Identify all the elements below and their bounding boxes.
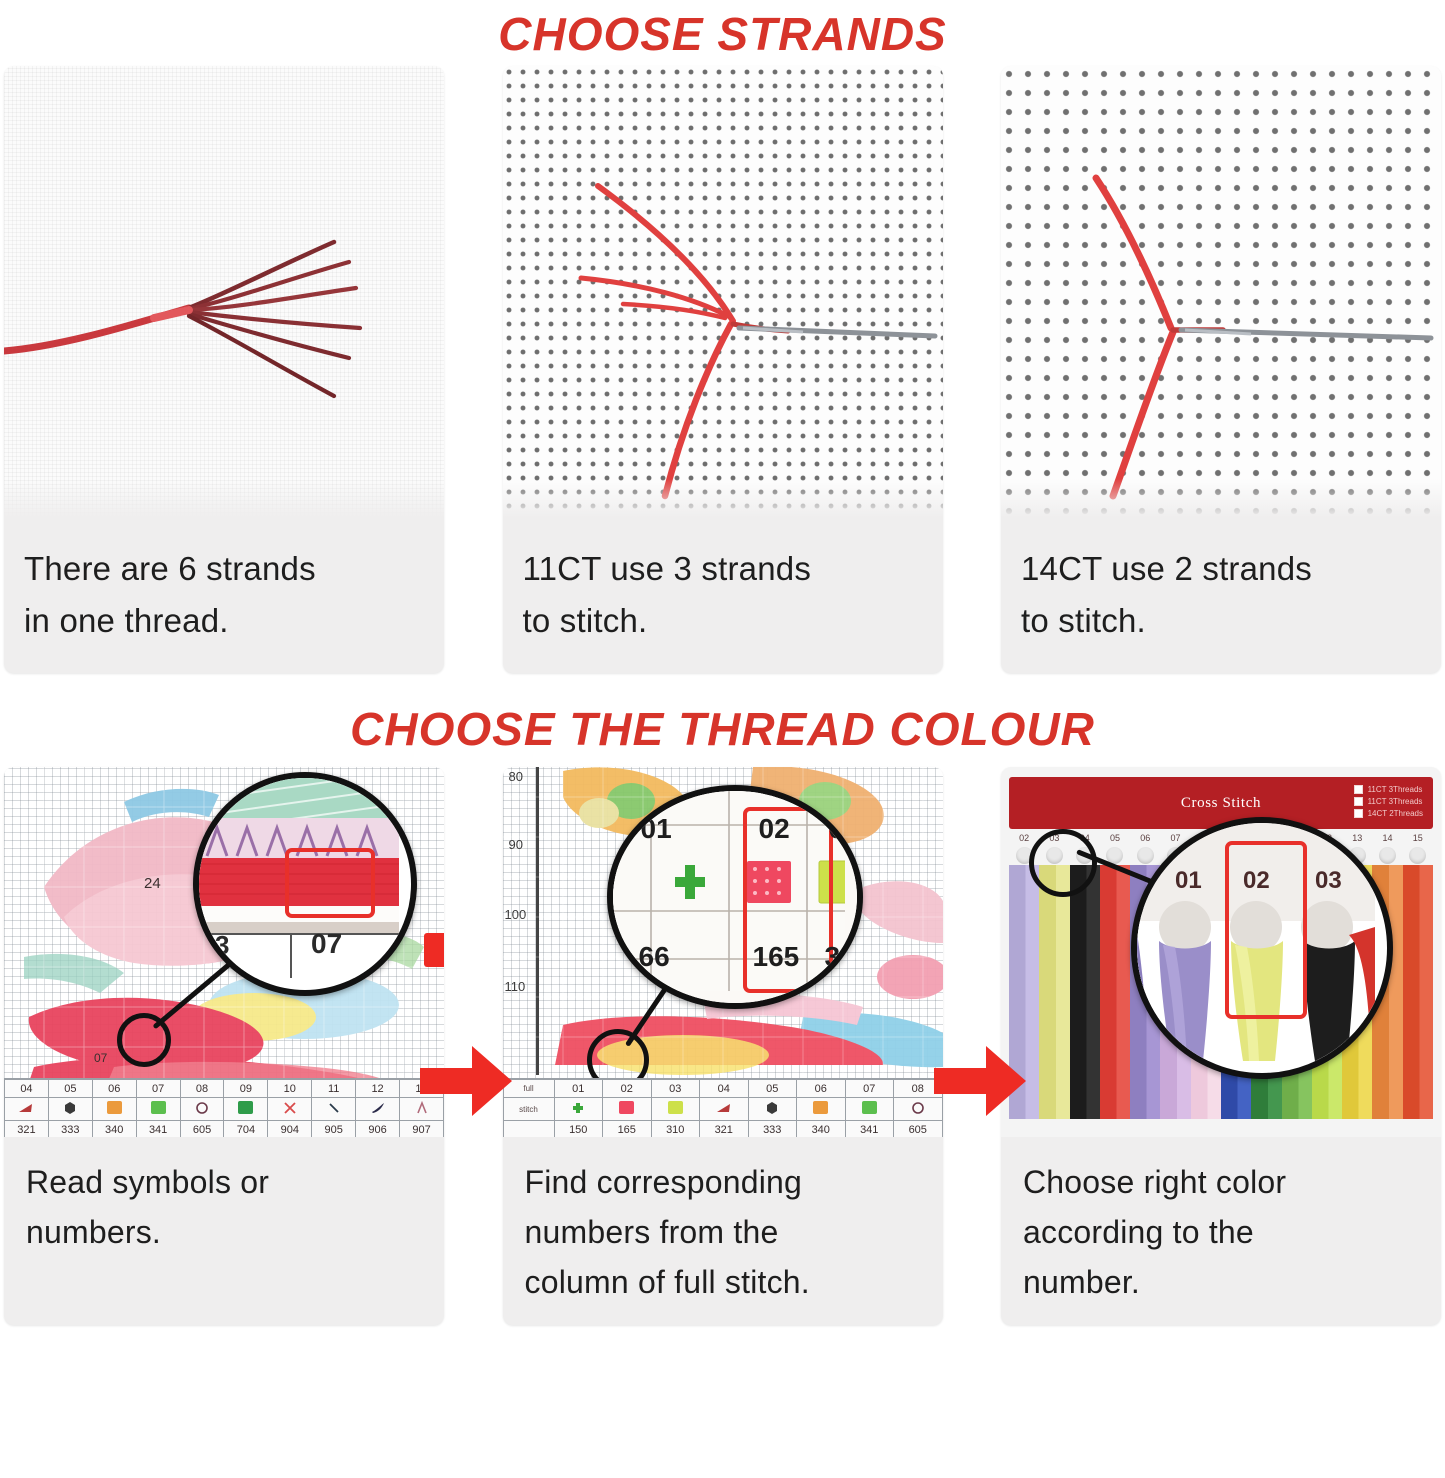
caption-line-1: 11CT use 3 strands — [523, 543, 923, 595]
option-label: 11CT 3Threads — [1368, 797, 1423, 806]
caption-strands-11ct: 11CT use 3 strands to stitch. — [503, 521, 943, 673]
magnifier-highlight-box — [285, 848, 375, 918]
arrow-right-icon-2 — [934, 1042, 1026, 1120]
mag-column-03: 03 — [829, 813, 860, 845]
checkbox-icon[interactable] — [1354, 809, 1363, 818]
legend-symbol-green-cross-icon — [554, 1098, 603, 1121]
infographic-page: CHOOSE STRANDS — [0, 0, 1445, 1478]
legend-number: 10 — [268, 1080, 312, 1098]
caption-line-1: Read symbols or — [26, 1157, 424, 1207]
pattern-chart-2: 80 90 100 110 — [503, 767, 943, 1137]
legend-code: 605 — [180, 1121, 224, 1138]
thread-skein — [1039, 865, 1069, 1119]
photo-fade — [1001, 479, 1441, 521]
option-label: 11CT 3Threads — [1368, 785, 1423, 794]
legend-symbol-dark-green-square-icon — [224, 1098, 268, 1121]
legend-code: 340 — [92, 1121, 136, 1138]
legend-symbol-orange-square-icon — [92, 1098, 136, 1121]
checkbox-icon[interactable] — [1354, 797, 1363, 806]
photo-chart-columns: 80 90 100 110 — [503, 767, 943, 1137]
legend-number: 05 — [48, 1080, 92, 1098]
section-heading-choose-strands: CHOOSE STRANDS — [0, 0, 1445, 62]
photo-fade — [4, 479, 444, 521]
photo-fade — [503, 479, 943, 521]
checkbox-icon[interactable] — [1354, 785, 1363, 794]
caption-line-2: according to the — [1023, 1207, 1421, 1257]
needle-2-strands-illustration — [1001, 66, 1441, 521]
legend-code: 904 — [268, 1121, 312, 1138]
photo-pattern-chart: 24 07 — [4, 767, 444, 1137]
mag-peg-01: 01 — [1175, 867, 1202, 895]
magnifier-focus-circle-3 — [1029, 829, 1097, 897]
legend-symbol-green-square-icon — [136, 1098, 180, 1121]
arrow-right-icon-1 — [420, 1042, 512, 1120]
card-read-symbols: 24 07 — [4, 767, 444, 1325]
thread-card-option: 11CT 3Threads — [1354, 797, 1423, 806]
legend-symbol-orange-square-icon — [797, 1098, 846, 1121]
mag-code-165: 165 — [753, 941, 800, 973]
legend-code: 341 — [845, 1121, 894, 1138]
legend-code: 704 — [224, 1121, 268, 1138]
legend-symbol-hex-dot-icon — [748, 1098, 797, 1121]
magnifier-circle-2: 01 02 03 66 165 310 — [607, 785, 863, 1009]
legend-code-row-2: 150 165 310 321 333 340 341 605 — [503, 1121, 942, 1138]
photo-11ct-aida — [503, 66, 943, 521]
legend-table: 04 05 06 07 08 09 10 11 12 13 — [4, 1079, 444, 1137]
caption-line-3: column of full stitch. — [525, 1257, 923, 1307]
legend-number: 12 — [356, 1080, 400, 1098]
needle-shape — [1181, 330, 1431, 338]
thread-skein — [1070, 865, 1100, 1119]
needle-3-strands-illustration — [503, 66, 943, 521]
chart-marker-24: 24 — [144, 875, 161, 892]
card-strands-6: There are 6 strands in one thread. — [4, 66, 444, 673]
legend-symbol-triangle-flag-icon — [700, 1098, 749, 1121]
caption-line-2: in one thread. — [24, 595, 424, 647]
caption-strands-6: There are 6 strands in one thread. — [4, 521, 444, 673]
legend-code: 905 — [312, 1121, 356, 1138]
legend-code-row: 321 333 340 341 605 704 904 905 906 907 — [5, 1121, 444, 1138]
magnifier-label-left: 3 — [215, 930, 229, 961]
legend-row-label-3 — [503, 1121, 554, 1138]
thread-6-strands-illustration — [4, 66, 444, 521]
mag-code-66: 66 — [639, 941, 670, 973]
card-strands-14ct: 14CT use 2 strands to stitch. — [1001, 66, 1441, 673]
legend-number-row: 04 05 06 07 08 09 10 11 12 13 — [5, 1080, 444, 1098]
legend-symbol-row-2: stitch — [503, 1098, 942, 1121]
card-strands-11ct: 11CT use 3 strands to stitch. — [503, 66, 943, 673]
legend-code: 321 — [700, 1121, 749, 1138]
legend-number: 02 — [603, 1080, 652, 1098]
caption-line-2: to stitch. — [1021, 595, 1421, 647]
thread-card-option: 11CT 3Threads — [1354, 785, 1423, 794]
legend-number: 05 — [748, 1080, 797, 1098]
legend-number: 11 — [312, 1080, 356, 1098]
section-heading-choose-thread-colour: CHOOSE THE THREAD COLOUR — [0, 699, 1445, 757]
caption-line-2: to stitch. — [523, 595, 923, 647]
legend-code: 310 — [651, 1121, 700, 1138]
mag-peg-03: 03 — [1315, 867, 1342, 895]
legend-symbol-dark-leaf-icon — [356, 1098, 400, 1121]
legend-code: 340 — [797, 1121, 846, 1138]
thread-card-title: Cross Stitch — [1181, 795, 1261, 812]
legend-code: 150 — [554, 1121, 603, 1138]
legend-strip-columns: full 01 02 03 04 05 06 07 08 — [503, 1078, 943, 1137]
caption-line-2: numbers from the — [525, 1207, 923, 1257]
legend-symbol-lime-square-icon — [651, 1098, 700, 1121]
legend-code: 341 — [136, 1121, 180, 1138]
mag-column-02: 02 — [759, 813, 790, 845]
chart-edge-red-marker — [424, 933, 444, 967]
thread-card-options: 11CT 3Threads 11CT 3Threads 14CT 2Thread… — [1354, 785, 1423, 818]
card-find-numbers: 80 90 100 110 — [503, 767, 943, 1325]
caption-choose-colour: Choose right color according to the numb… — [1001, 1137, 1441, 1325]
thread-colour-card-row: 24 07 — [0, 767, 1445, 1325]
magnifier-circle: 3 07 — [193, 772, 417, 996]
caption-read-symbols: Read symbols or numbers. — [4, 1137, 444, 1275]
legend-symbol-hex-dot-icon — [48, 1098, 92, 1121]
caption-line-1: Choose right color — [1023, 1157, 1421, 1207]
needle-shape — [739, 328, 935, 336]
pattern-chart: 24 07 — [4, 767, 444, 1137]
legend-code: 165 — [603, 1121, 652, 1138]
legend-number: 06 — [797, 1080, 846, 1098]
legend-number: 03 — [651, 1080, 700, 1098]
legend-number: 04 — [5, 1080, 49, 1098]
legend-symbol-green-square-icon — [845, 1098, 894, 1121]
photo-14ct-aida — [1001, 66, 1441, 521]
magnifier-label-right: 07 — [311, 928, 342, 960]
thread-organiser-card: Cross Stitch 11CT 3Threads 11CT 3Threads — [1001, 767, 1441, 1137]
legend-symbol-pink-square-icon — [603, 1098, 652, 1121]
legend-number: 07 — [845, 1080, 894, 1098]
legend-number-row-2: full 01 02 03 04 05 06 07 08 — [503, 1080, 942, 1098]
legend-number: 08 — [180, 1080, 224, 1098]
legend-symbol-back-slash-icon — [312, 1098, 356, 1121]
legend-symbol-triangle-flag-icon — [5, 1098, 49, 1121]
chart-marker-07: 07 — [94, 1051, 107, 1065]
photo-thread-card: Cross Stitch 11CT 3Threads 11CT 3Threads — [1001, 767, 1441, 1137]
thread-skein — [1403, 865, 1433, 1119]
legend-symbol-red-x-icon — [268, 1098, 312, 1121]
caption-find-numbers: Find corresponding numbers from the colu… — [503, 1137, 943, 1325]
legend-code: 333 — [48, 1121, 92, 1138]
legend-table-2: full 01 02 03 04 05 06 07 08 — [503, 1079, 943, 1137]
caption-line-1: There are 6 strands — [24, 543, 424, 595]
caption-line-1: Find corresponding — [525, 1157, 923, 1207]
thread-card-option: 14CT 2Threads — [1354, 809, 1423, 818]
legend-number: 06 — [92, 1080, 136, 1098]
mag-peg-02: 02 — [1243, 867, 1270, 895]
legend-code: 907 — [400, 1121, 444, 1138]
legend-number: 04 — [700, 1080, 749, 1098]
card-choose-colour: Cross Stitch 11CT 3Threads 11CT 3Threads — [1001, 767, 1441, 1325]
legend-code: 333 — [748, 1121, 797, 1138]
caption-line-1: 14CT use 2 strands — [1021, 543, 1421, 595]
thread-skein — [1100, 865, 1130, 1119]
mag-column-01: 01 — [641, 813, 672, 845]
legend-number: 09 — [224, 1080, 268, 1098]
photo-6-strands — [4, 66, 444, 521]
caption-strands-14ct: 14CT use 2 strands to stitch. — [1001, 521, 1441, 673]
magnifier-circle-3: 01 02 03 — [1131, 817, 1393, 1079]
legend-code: 906 — [356, 1121, 400, 1138]
legend-symbol-open-circle-icon — [180, 1098, 224, 1121]
caption-line-3: number. — [1023, 1257, 1421, 1307]
legend-number: 07 — [136, 1080, 180, 1098]
option-label: 14CT 2Threads — [1368, 809, 1423, 818]
legend-strip-symbols: 04 05 06 07 08 09 10 11 12 13 — [4, 1078, 444, 1137]
legend-symbol-row — [5, 1098, 444, 1121]
legend-number: 01 — [554, 1080, 603, 1098]
legend-code: 605 — [894, 1121, 943, 1138]
caption-line-2: numbers. — [26, 1207, 424, 1257]
thread-card-header: Cross Stitch 11CT 3Threads 11CT 3Threads — [1009, 777, 1433, 829]
legend-code: 321 — [5, 1121, 49, 1138]
strands-card-row: There are 6 strands in one thread. — [0, 66, 1445, 673]
